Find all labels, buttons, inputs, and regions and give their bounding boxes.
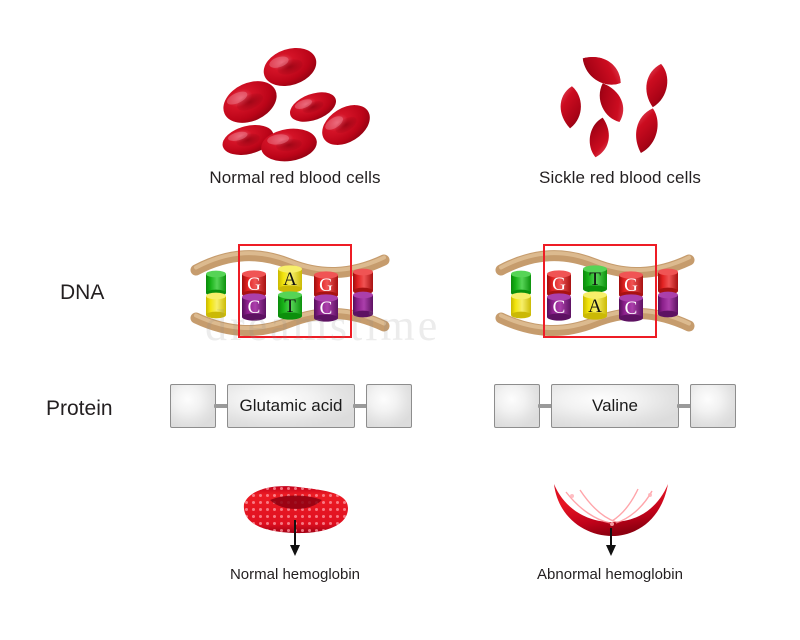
dna-diagram-normal: G C A: [190, 248, 390, 336]
base-pair-flank-right: [353, 269, 373, 318]
dna-highlight-box-sickle: [543, 244, 657, 338]
protein-connector: [538, 404, 552, 408]
sickle-cell: [629, 105, 664, 155]
protein-box-left-flank-sickle: [494, 384, 540, 428]
protein-box-glutamic-acid: Glutamic acid: [227, 384, 355, 428]
protein-connector: [214, 404, 228, 408]
protein-box-left-flank-normal: [170, 384, 216, 428]
base-pair-flank-left: [206, 271, 226, 319]
normal-cells-caption: Normal red blood cells: [145, 168, 445, 188]
sickle-cell: [585, 116, 614, 160]
abnormal-hemoglobin-caption: Abnormal hemoglobin: [485, 566, 735, 583]
dna-row-label: DNA: [60, 281, 104, 305]
protein-connector: [353, 404, 367, 408]
normal-hemoglobin-illustration: [236, 478, 356, 558]
normal-red-blood-cells-illustration: [215, 45, 385, 160]
dna-highlight-box-normal: [238, 244, 352, 338]
sickle-cell: [641, 61, 673, 109]
base-pair-flank-left: [511, 271, 531, 319]
figure-canvas: Normal red blood cells: [0, 0, 800, 640]
sickle-red-blood-cells-illustration: [555, 45, 685, 160]
base-pair-flank-right: [658, 269, 678, 318]
sickle-cell: [558, 85, 584, 129]
dna-diagram-sickle: G C T: [495, 248, 695, 336]
protein-box-right-flank-sickle: [690, 384, 736, 428]
protein-connector: [677, 404, 691, 408]
sickle-cell: [595, 79, 628, 125]
protein-box-right-flank-normal: [366, 384, 412, 428]
abnormal-hemoglobin-illustration: [546, 478, 676, 558]
protein-row-label: Protein: [46, 397, 113, 421]
normal-hemoglobin-caption: Normal hemoglobin: [170, 566, 420, 583]
sickle-cells-caption: Sickle red blood cells: [470, 168, 770, 188]
protein-box-valine: Valine: [551, 384, 679, 428]
